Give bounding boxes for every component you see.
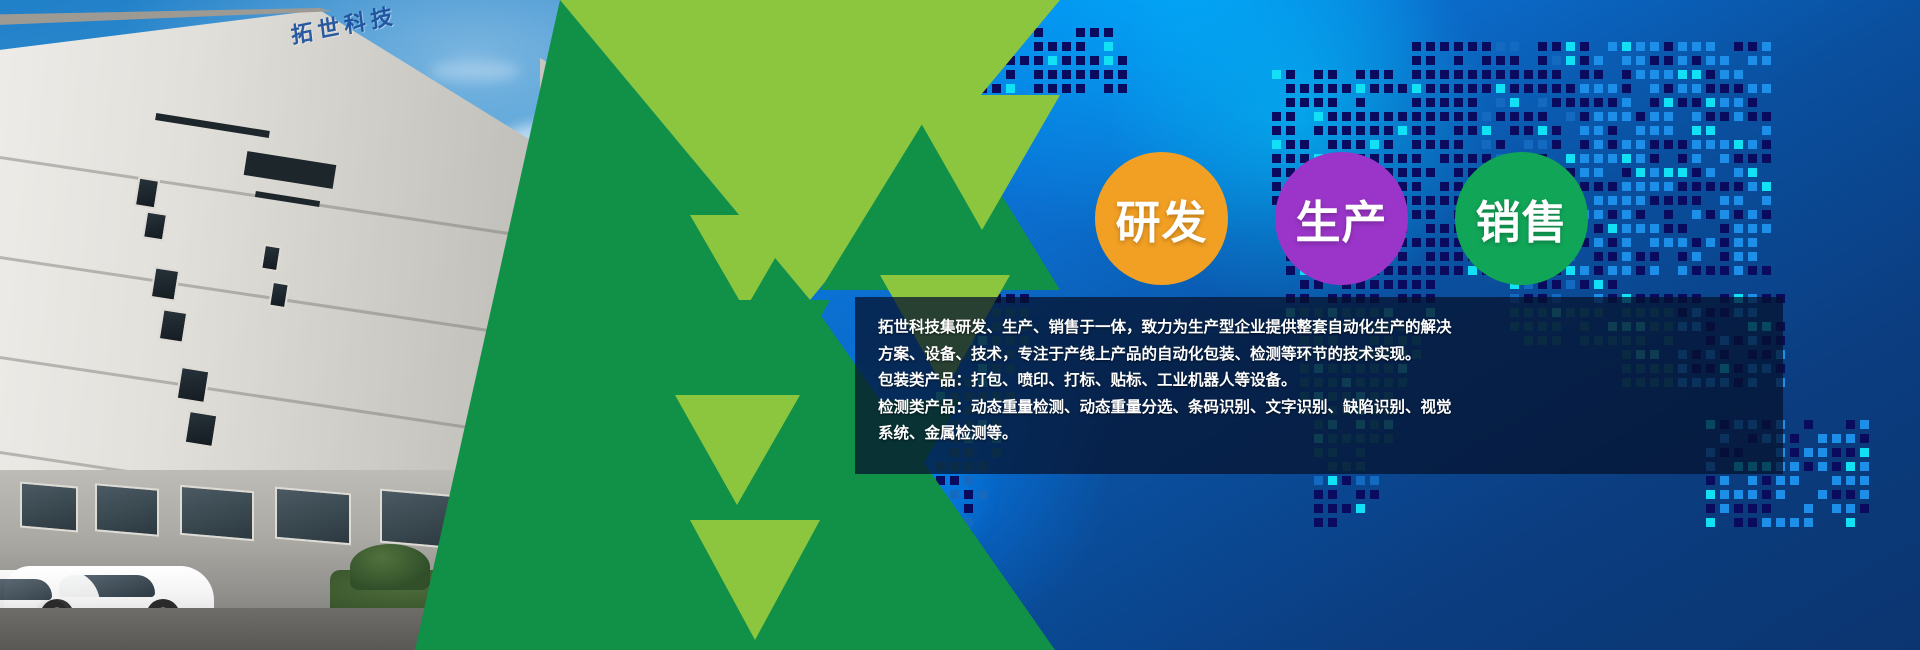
description-line-1: 拓世科技集研发、生产、销售于一体，致力为生产型企业提供整套自动化生产的解决 [878,314,1778,341]
cloud [430,60,520,82]
window [380,489,458,550]
window [176,366,211,404]
badge-circle-sales[interactable]: 销售 [1455,152,1588,285]
badge-label-rd: 研发 [1115,186,1207,251]
badge-label-sales: 销售 [1475,186,1567,251]
window [184,410,219,448]
badge-label-production: 生产 [1295,186,1387,251]
description-text-block: 拓世科技集研发、生产、销售于一体，致力为生产型企业提供整套自动化生产的解决 方案… [878,314,1778,447]
description-line-2: 方案、设备、技术，专注于产线上产品的自动化包装、检测等环节的技术实现。 [878,341,1778,368]
window [134,176,160,209]
window [150,266,181,302]
road-surface [0,608,760,650]
company-banner: 拓世科技 研发 生产 销售 拓世科技集研发、生产、销售于一体，致力为 [0,0,1920,650]
window [95,483,159,537]
description-line-3: 包装类产品：打包、喷印、打标、贴标、工业机器人等设备。 [878,367,1778,394]
window [275,487,351,546]
shrub [350,544,430,590]
badge-circle-rd[interactable]: 研发 [1095,152,1228,285]
car-window [0,579,52,600]
window [180,485,254,541]
window [142,210,168,241]
description-line-4: 检测类产品：动态重量检测、动态重量分选、条码识别、文字识别、缺陷识别、视觉 [878,394,1778,421]
window [158,308,189,344]
window [20,481,78,532]
factory-photo: 拓世科技 [0,0,760,650]
description-line-5: 系统、金属检测等。 [878,420,1778,447]
badge-circle-production[interactable]: 生产 [1275,152,1408,285]
